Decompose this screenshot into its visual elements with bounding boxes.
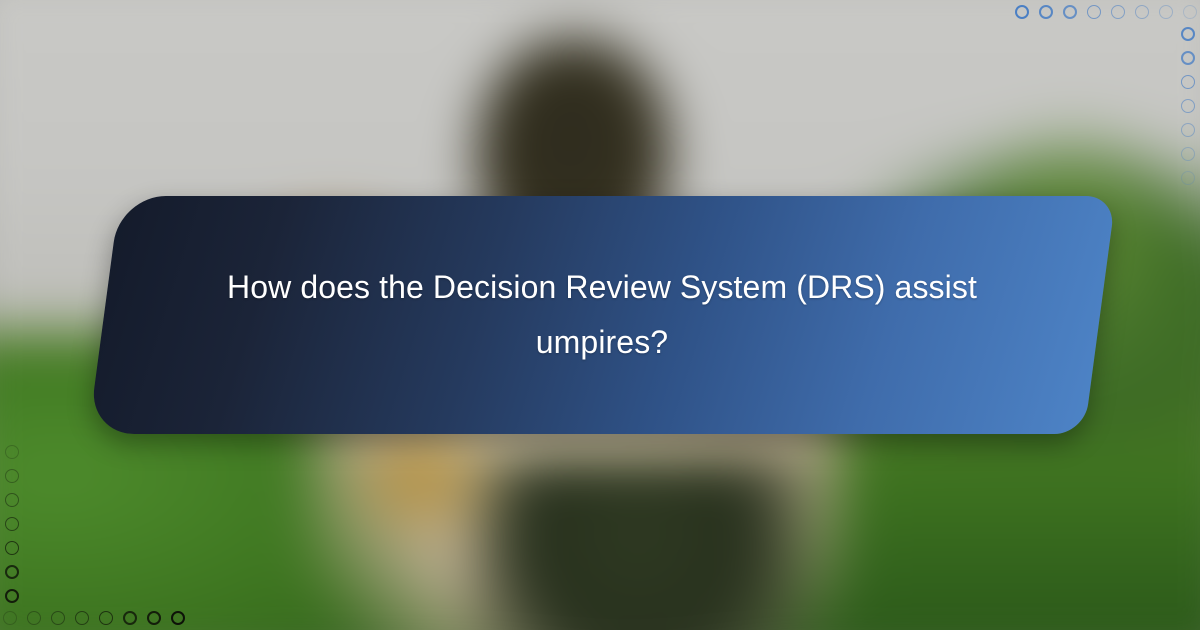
poster-canvas: How does the Decision Review System (DRS… [0, 0, 1200, 630]
headline-banner: How does the Decision Review System (DRS… [104, 196, 1100, 434]
banner-text-block: How does the Decision Review System (DRS… [104, 196, 1100, 434]
page-title: How does the Decision Review System (DRS… [224, 260, 980, 370]
player-legs [472, 457, 805, 630]
